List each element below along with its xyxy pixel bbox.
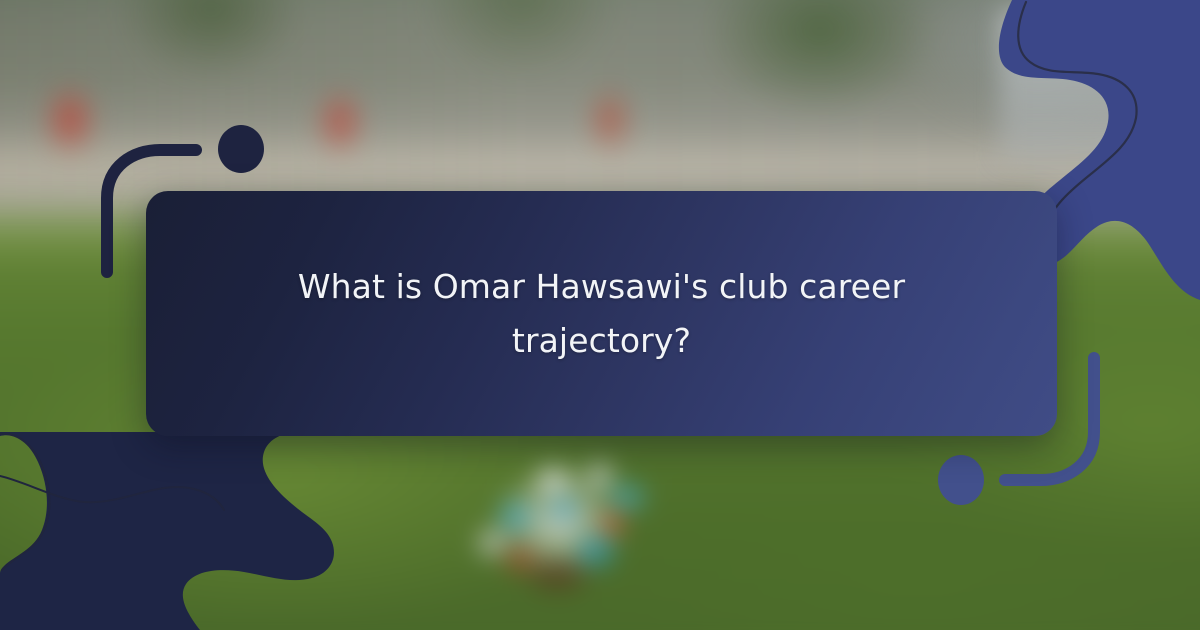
question-text: What is Omar Hawsawi's club career traje… bbox=[262, 260, 942, 368]
bottom-right-dot-icon bbox=[938, 455, 984, 505]
question-card: What is Omar Hawsawi's club career traje… bbox=[146, 191, 1057, 436]
social-share-card: What is Omar Hawsawi's club career traje… bbox=[0, 0, 1200, 630]
top-left-dot-icon bbox=[218, 125, 264, 173]
